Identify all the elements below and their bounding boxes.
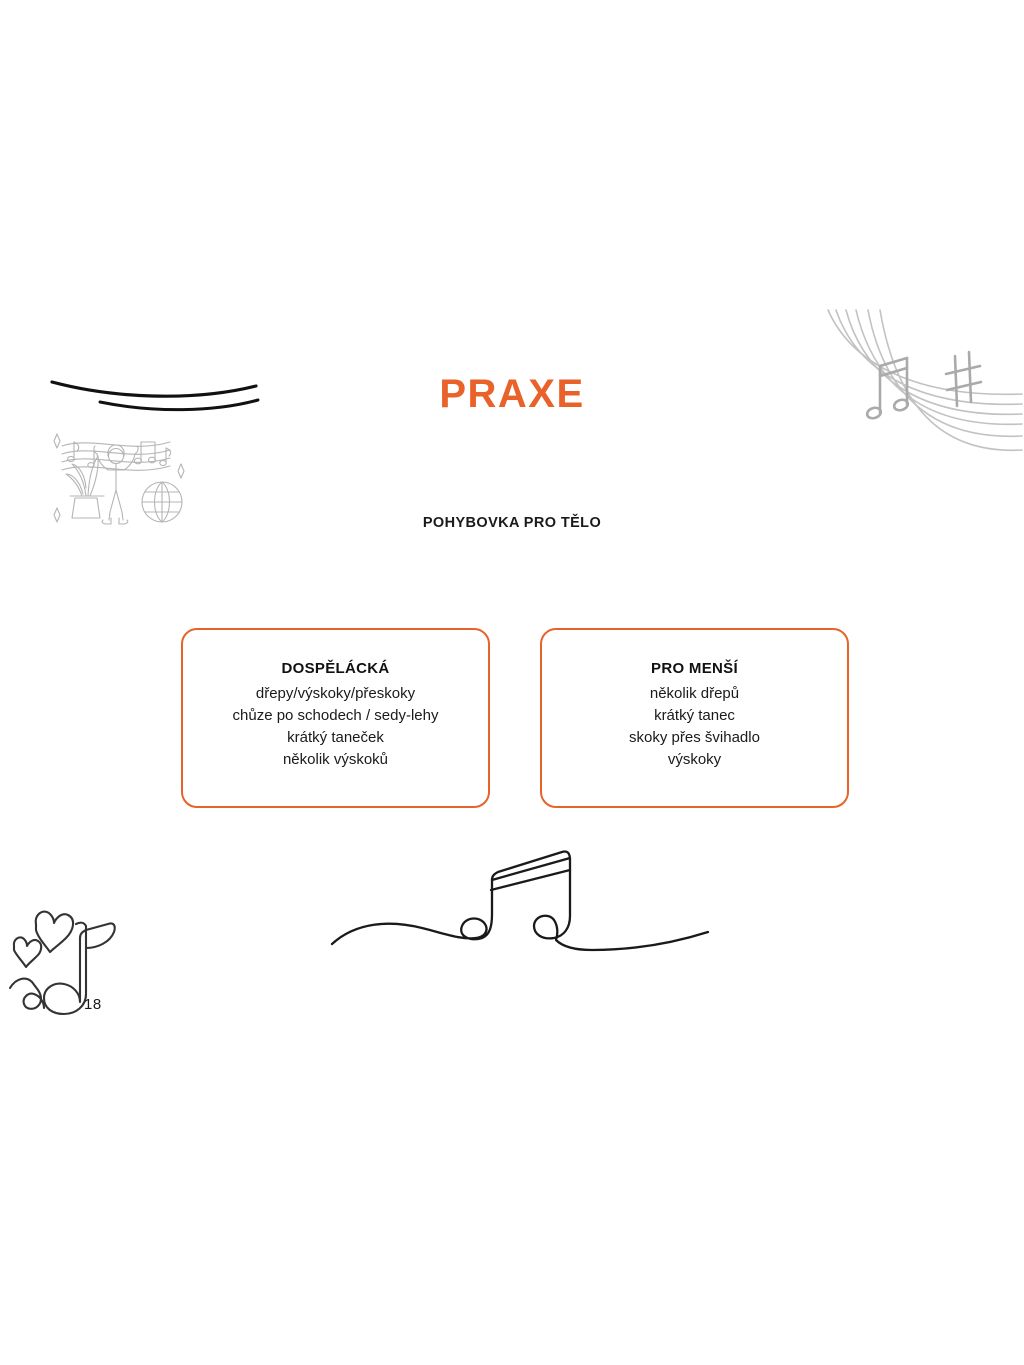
card-line: skoky přes švihadlo bbox=[629, 727, 760, 749]
card-line: krátký taneček bbox=[287, 727, 384, 749]
exercise-card-children: PRO MENŠÍ několik dřepů krátký tanec sko… bbox=[540, 628, 849, 808]
hearts-and-note-icon bbox=[4, 898, 122, 1027]
card-line: výskoky bbox=[668, 749, 721, 771]
card-line: krátký tanec bbox=[654, 705, 735, 727]
page-canvas: PRAXE POHYBOVKA PRO TĚLO DOSPĚLÁCKÁ dřep… bbox=[0, 0, 1024, 1365]
card-title: DOSPĚLÁCKÁ bbox=[281, 659, 389, 679]
exercise-card-adults: DOSPĚLÁCKÁ dřepy/výskoky/přeskoky chůze … bbox=[181, 628, 490, 808]
card-title: PRO MENŠÍ bbox=[651, 659, 738, 679]
exercise-card-group: DOSPĚLÁCKÁ dřepy/výskoky/přeskoky chůze … bbox=[181, 628, 849, 808]
card-line: dřepy/výskoky/přeskoky bbox=[256, 683, 415, 705]
line-art-eighth-notes-icon bbox=[330, 840, 710, 965]
card-line: chůze po schodech / sedy-lehy bbox=[233, 705, 439, 727]
page-subtitle: POHYBOVKA PRO TĚLO bbox=[0, 516, 1024, 532]
card-line: několik výskoků bbox=[283, 749, 388, 771]
page-title: PRAXE bbox=[0, 374, 1024, 414]
card-line: několik dřepů bbox=[650, 683, 739, 705]
page-number: 18 bbox=[84, 996, 102, 1013]
